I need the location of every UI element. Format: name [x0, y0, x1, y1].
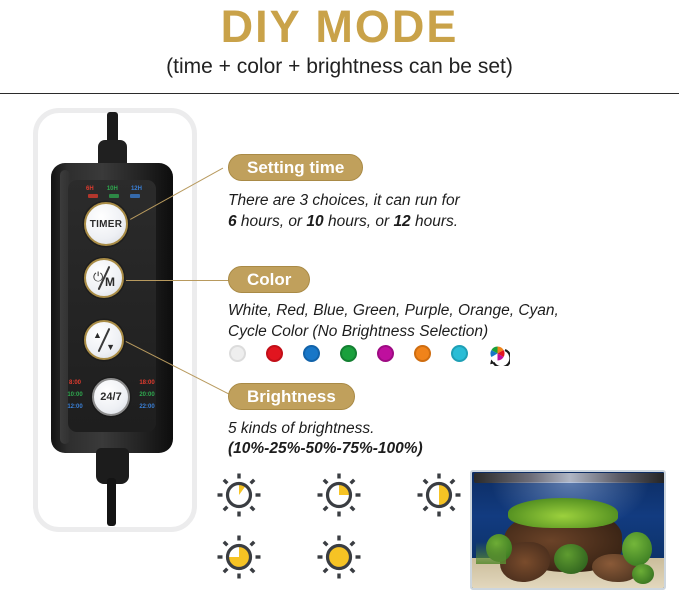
txt-hours-or-2: hours, or — [324, 213, 394, 230]
time-right-3: 22:00 — [139, 404, 154, 411]
brightness-icons-row-1 — [216, 472, 462, 518]
timer-button-label: TIMER — [90, 219, 123, 230]
schedule-times-right: 18:00 20:00 22:00 — [136, 380, 158, 411]
color-line1: White, Red, Blue, Green, Purple, Orange,… — [228, 300, 559, 321]
txt-hours-or-1: hours, or — [237, 213, 307, 230]
leader-line-color — [126, 280, 232, 281]
header: DIY MODE (time + color + brightness can … — [0, 0, 679, 96]
brightness-icon-75[interactable] — [216, 534, 262, 580]
led-6h — [88, 194, 98, 198]
cycle-247-label: 24/7 — [100, 391, 121, 403]
callout-pill-label: Setting time — [247, 158, 344, 178]
sun-icon — [216, 472, 262, 518]
timer-button[interactable]: TIMER — [84, 202, 128, 246]
moss-canopy — [508, 498, 618, 528]
swatch-cyan[interactable] — [451, 345, 468, 362]
callout-pill-label: Color — [247, 270, 291, 290]
callout-pill-brightness: Brightness — [228, 383, 355, 410]
callout-pill-setting-time: Setting time — [228, 154, 363, 181]
setting-time-line2: 6 hours, or 10 hours, or 12 hours. — [228, 211, 458, 232]
brightness-icon-100[interactable] — [316, 534, 362, 580]
time-right-2: 20:00 — [139, 392, 154, 399]
page-title: DIY MODE — [0, 2, 679, 52]
led-10h — [109, 194, 119, 198]
time-left-2: 10:00 — [67, 392, 82, 399]
swatch-green[interactable] — [340, 345, 357, 362]
sun-icon — [316, 534, 362, 580]
hours-6: 6 — [228, 213, 237, 230]
plant-right — [622, 532, 652, 566]
chevron-up-icon: ▲ — [93, 330, 102, 340]
page-subtitle: (time + color + brightness can be set) — [0, 54, 679, 80]
swatch-cycle-color[interactable] — [488, 345, 510, 365]
color-swatch-row — [229, 345, 510, 365]
time-left-1: 8:00 — [69, 380, 81, 387]
timer-led-row — [88, 194, 140, 199]
led-12h — [130, 194, 140, 198]
swatch-red[interactable] — [266, 345, 283, 362]
aquarium-photo — [462, 462, 674, 600]
plant-center — [554, 544, 588, 574]
header-divider — [0, 93, 679, 94]
foreground-grass — [476, 542, 506, 564]
hours-10: 10 — [306, 213, 323, 230]
mode-button-label: M — [105, 275, 115, 289]
txt-hours-end: hours. — [411, 213, 458, 230]
swatch-orange[interactable] — [414, 345, 431, 362]
plant-right-low — [632, 564, 654, 584]
schedule-times-left: 8:00 10:00 12:00 — [64, 380, 86, 411]
brightness-icon-50[interactable] — [416, 472, 462, 518]
aquarium-tank — [470, 470, 666, 590]
timer-led-label-10h: 10H — [107, 185, 118, 193]
sun-icon — [316, 472, 362, 518]
brightness-updown-button[interactable]: ▲ ▼ — [84, 320, 124, 360]
brightness-icon-10[interactable] — [216, 472, 262, 518]
setting-time-line1: There are 3 choices, it can run for — [228, 190, 460, 211]
color-line2: Cycle Color (No Brightness Selection) — [228, 321, 488, 342]
hours-12: 12 — [393, 213, 410, 230]
brightness-percent-list: (10%-25%-50%-75%-100%) — [228, 440, 423, 457]
timer-led-label-6h: 6H — [86, 185, 94, 193]
brightness-line2: (10%-25%-50%-75%-100%) — [228, 438, 423, 459]
callout-pill-color: Color — [228, 266, 310, 293]
time-left-3: 12:00 — [67, 404, 82, 411]
timer-led-labels: 6H 10H 12H — [86, 184, 142, 193]
infographic-page: DIY MODE (time + color + brightness can … — [0, 0, 679, 605]
time-right-1: 18:00 — [139, 380, 154, 387]
chevron-down-icon: ▼ — [106, 342, 115, 352]
callout-pill-label: Brightness — [247, 387, 336, 407]
cycle-color-icon — [488, 345, 510, 366]
brightness-line1: 5 kinds of brightness. — [228, 418, 374, 439]
brightness-icons-row-2 — [216, 534, 362, 580]
cable-bottom — [107, 478, 116, 526]
swatch-white[interactable] — [229, 345, 246, 362]
power-mode-button[interactable]: ⏻ M — [84, 258, 124, 298]
cycle-247-button[interactable]: 24/7 — [92, 378, 130, 416]
swatch-purple[interactable] — [377, 345, 394, 362]
sun-icon — [416, 472, 462, 518]
brightness-icon-25[interactable] — [316, 472, 362, 518]
timer-led-label-12h: 12H — [131, 185, 142, 193]
sun-icon — [216, 534, 262, 580]
swatch-blue[interactable] — [303, 345, 320, 362]
